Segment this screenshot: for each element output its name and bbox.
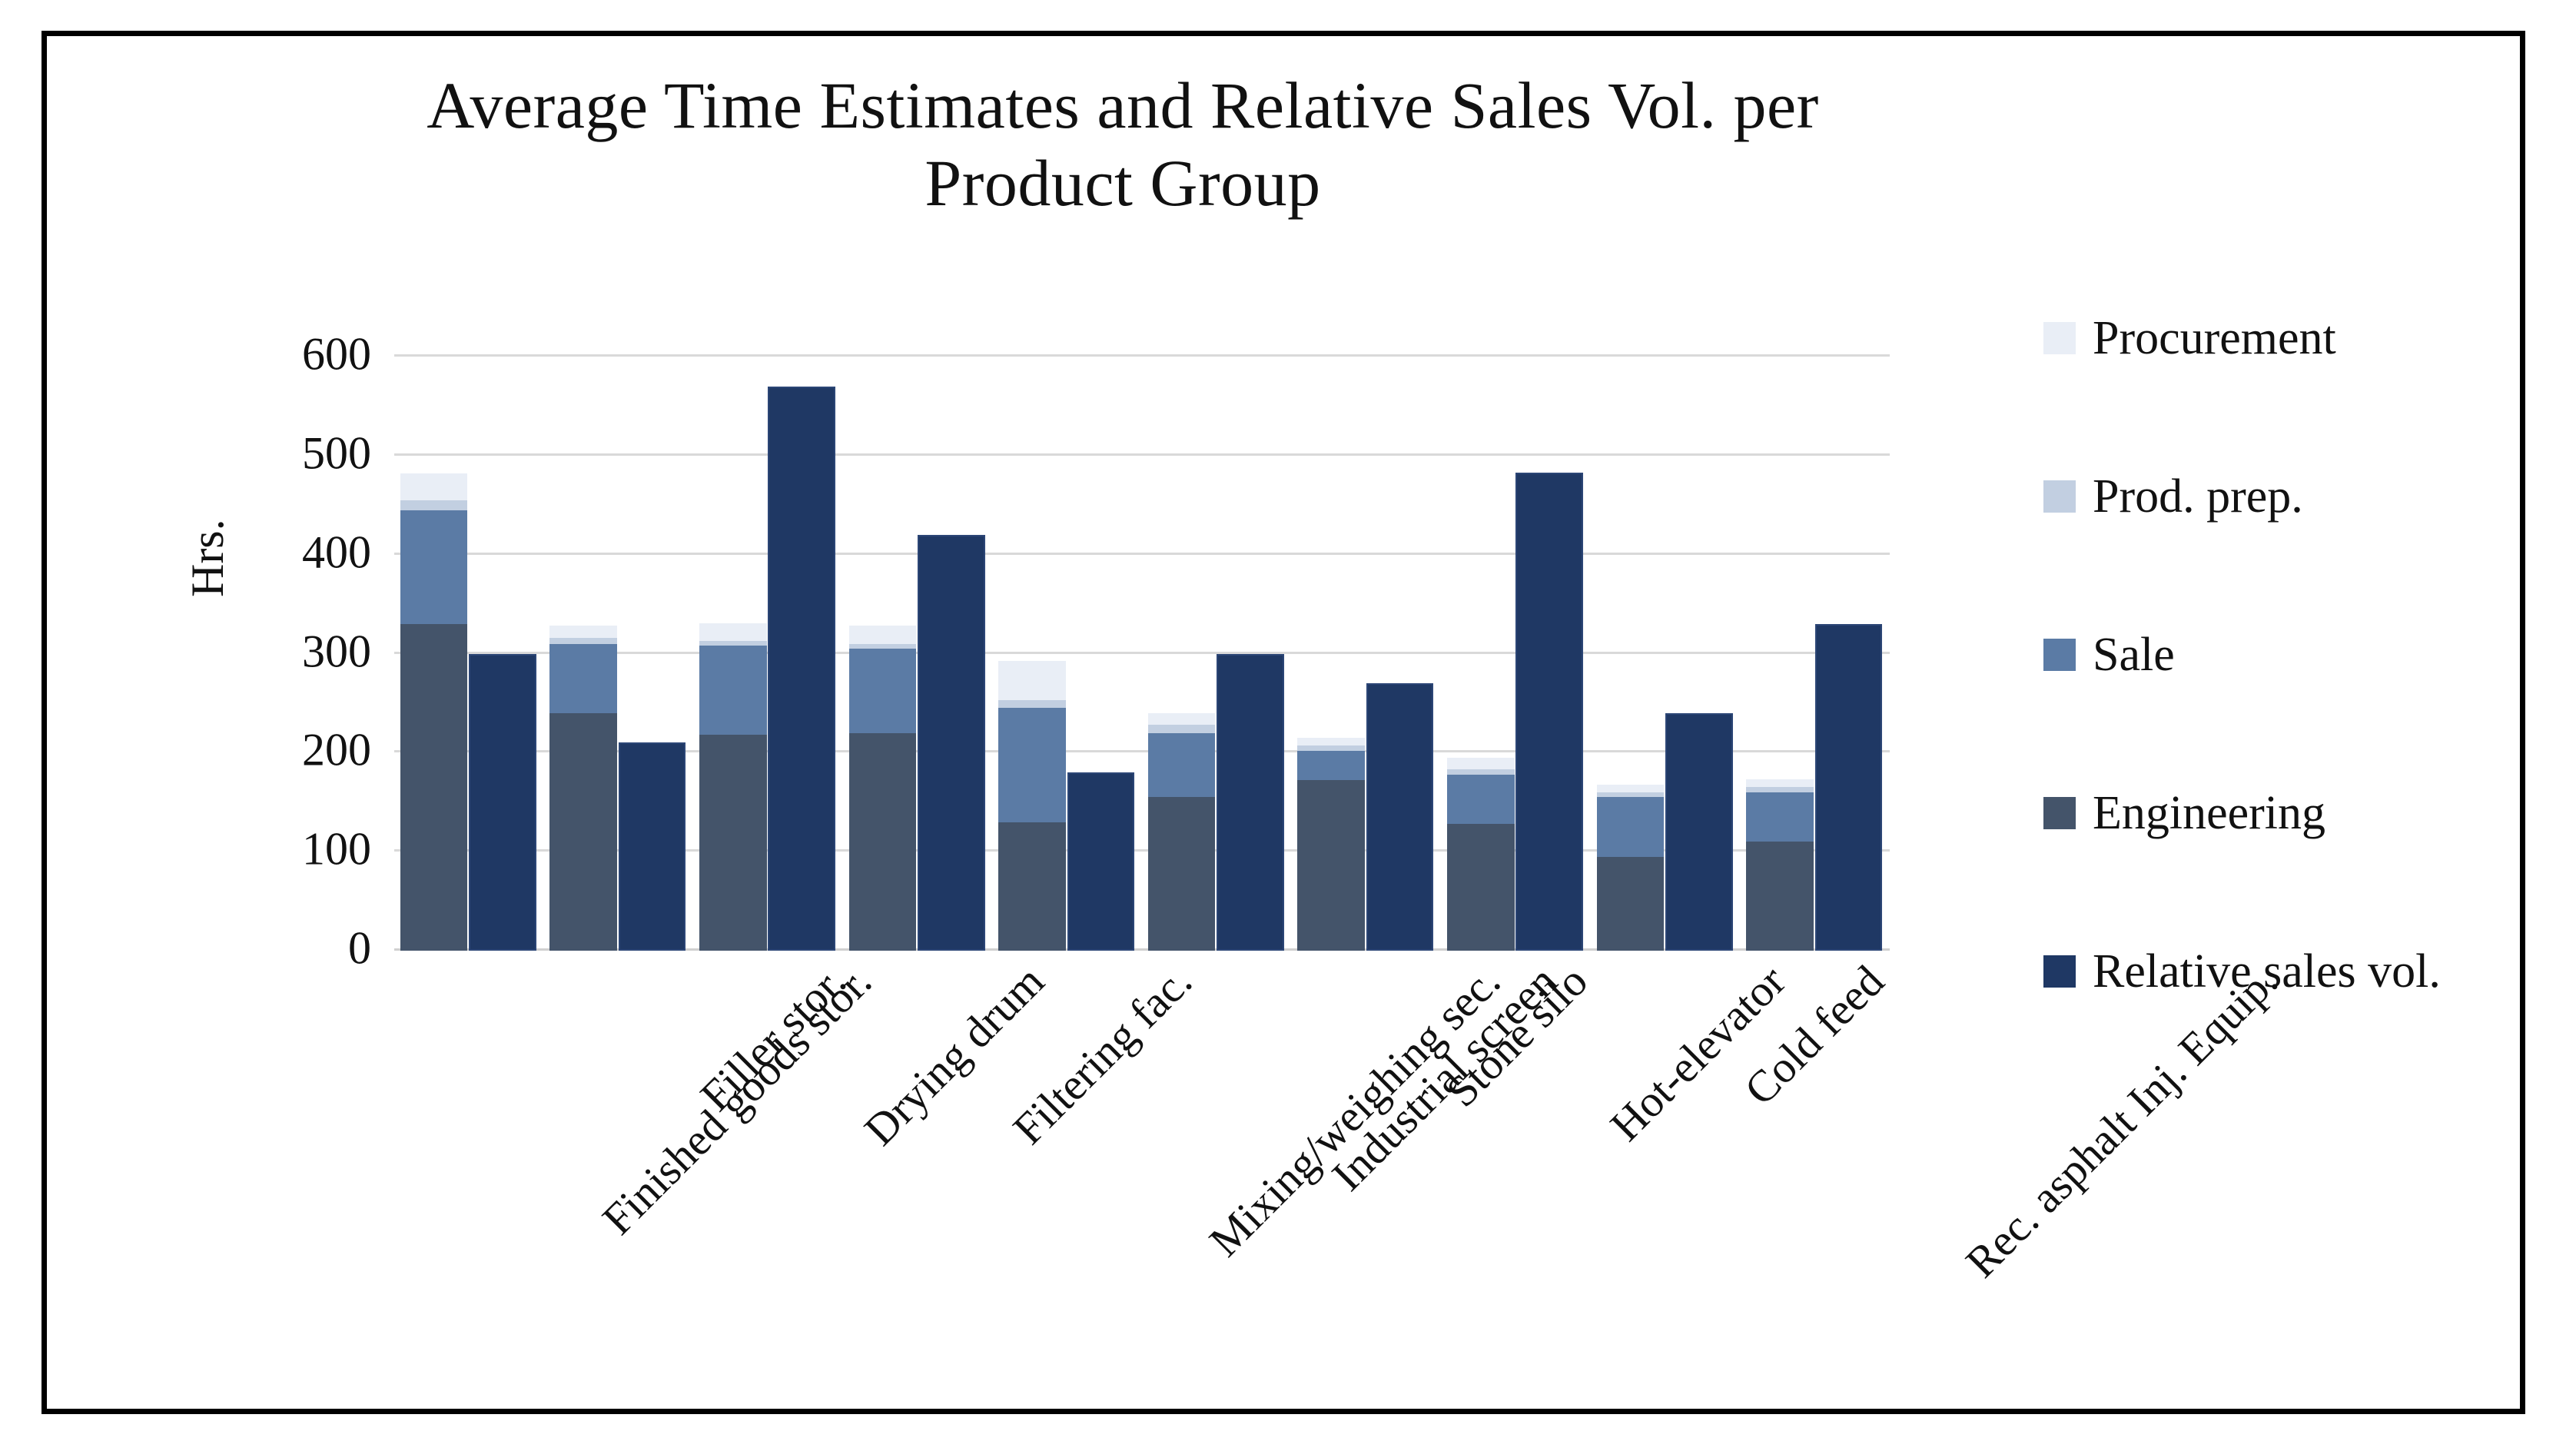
y-axis-tick-label: 600: [302, 328, 371, 381]
legend-label: Sale: [2093, 628, 2175, 682]
y-axis-tick-label: 100: [302, 823, 371, 876]
bar-segment[interactable]: [1148, 797, 1216, 951]
legend-label: Procurement: [2093, 311, 2336, 366]
bar-segment[interactable]: [549, 644, 617, 713]
legend-label: Prod. prep.: [2093, 470, 2303, 524]
relative-sales-bar[interactable]: [1815, 624, 1883, 951]
bar-group[interactable]: [693, 357, 843, 951]
bar-group[interactable]: [843, 357, 993, 951]
bar-segment[interactable]: [1746, 787, 1814, 792]
bar-segment[interactable]: [699, 646, 767, 735]
bar-segment[interactable]: [1148, 733, 1216, 798]
bar-segment[interactable]: [1447, 824, 1515, 951]
relative-sales-bar[interactable]: [1515, 473, 1583, 951]
bar-segment[interactable]: [1746, 792, 1814, 842]
bar-segment[interactable]: [400, 473, 468, 500]
bar-segment[interactable]: [1597, 797, 1665, 856]
stacked-time-bar[interactable]: [1148, 713, 1216, 951]
stacked-time-bar[interactable]: [1597, 785, 1665, 951]
bar-segment[interactable]: [1447, 775, 1515, 824]
stacked-time-bar[interactable]: [1746, 779, 1814, 951]
bar-segment[interactable]: [998, 822, 1066, 951]
bar-segment[interactable]: [1148, 713, 1216, 725]
legend-item[interactable]: Prod. prep.: [2043, 417, 2505, 576]
stacked-time-bar[interactable]: [699, 623, 767, 951]
legend-swatch-icon: [2043, 955, 2076, 988]
bar-segment[interactable]: [1746, 842, 1814, 951]
bar-segment[interactable]: [998, 661, 1066, 701]
bar-segment[interactable]: [1746, 779, 1814, 787]
bar-group[interactable]: [1292, 357, 1442, 951]
bar-group[interactable]: [544, 357, 694, 951]
y-axis-title: Hrs.: [181, 519, 234, 597]
bar-segment[interactable]: [1597, 857, 1665, 951]
legend-item[interactable]: Sale: [2043, 576, 2505, 734]
y-axis-tick-label: 500: [302, 427, 371, 480]
stacked-time-bar[interactable]: [400, 473, 468, 951]
bar-segment[interactable]: [400, 624, 468, 951]
x-axis-tick-label: Mixing/weighing sec.: [1199, 955, 1510, 1267]
bar-segment[interactable]: [699, 735, 767, 951]
relative-sales-bar[interactable]: [619, 742, 686, 951]
bar-segment[interactable]: [400, 510, 468, 624]
bar-segment[interactable]: [1297, 780, 1365, 951]
bar-group[interactable]: [394, 357, 544, 951]
y-axis-tick-label: 200: [302, 724, 371, 777]
stacked-time-bar[interactable]: [549, 626, 617, 951]
relative-sales-bar[interactable]: [1366, 683, 1434, 951]
bar-segment[interactable]: [849, 644, 917, 649]
figure-frame: Average Time Estimates and Relative Sale…: [41, 31, 2525, 1414]
bar-segment[interactable]: [1597, 792, 1665, 797]
relative-sales-bar[interactable]: [1665, 713, 1733, 951]
bar-segment[interactable]: [549, 626, 617, 637]
bar-segment[interactable]: [549, 713, 617, 951]
bar-group[interactable]: [992, 357, 1142, 951]
relative-sales-bar[interactable]: [1217, 654, 1284, 951]
bar-segment[interactable]: [1597, 785, 1665, 792]
relative-sales-bar[interactable]: [918, 535, 985, 951]
legend-item[interactable]: Relative sales vol.: [2043, 892, 2505, 1051]
bar-segment[interactable]: [849, 733, 917, 951]
bar-segment[interactable]: [998, 700, 1066, 708]
bar-group[interactable]: [1441, 357, 1591, 951]
bar-segment[interactable]: [699, 641, 767, 646]
bar-segment[interactable]: [998, 708, 1066, 822]
bar-segment[interactable]: [849, 649, 917, 733]
bar-segment[interactable]: [699, 623, 767, 641]
bar-segment[interactable]: [549, 638, 617, 644]
legend-swatch-icon: [2043, 797, 2076, 829]
stacked-time-bar[interactable]: [849, 626, 917, 951]
bar-segment[interactable]: [400, 500, 468, 510]
chart-legend: ProcurementProd. prep.SaleEngineeringRel…: [2043, 259, 2505, 1051]
bar-segment[interactable]: [1297, 745, 1365, 750]
legend-item[interactable]: Procurement: [2043, 259, 2505, 417]
legend-swatch-icon: [2043, 480, 2076, 513]
bars-layer: [394, 357, 1890, 951]
y-axis-tick-label: 300: [302, 625, 371, 678]
stacked-time-bar[interactable]: [1297, 738, 1365, 951]
bar-group[interactable]: [1591, 357, 1741, 951]
relative-sales-bar[interactable]: [768, 387, 835, 951]
bar-segment[interactable]: [849, 626, 917, 643]
y-axis-tick-label: 400: [302, 526, 371, 579]
legend-swatch-icon: [2043, 639, 2076, 671]
legend-label: Relative sales vol.: [2093, 945, 2441, 999]
bar-segment[interactable]: [1297, 751, 1365, 781]
x-axis-labels: Finished goods stor.Filler stor.Drying d…: [394, 955, 1890, 1447]
chart-canvas: Average Time Estimates and Relative Sale…: [47, 36, 2520, 1409]
legend-label: Engineering: [2093, 786, 2325, 841]
legend-item[interactable]: Engineering: [2043, 734, 2505, 892]
bar-segment[interactable]: [1447, 758, 1515, 769]
bar-segment[interactable]: [1447, 769, 1515, 774]
y-axis-tick-label: 0: [348, 922, 371, 975]
stacked-time-bar[interactable]: [1447, 758, 1515, 951]
plot-area: 6005004003002001000: [394, 357, 1890, 951]
stacked-time-bar[interactable]: [998, 661, 1066, 951]
relative-sales-bar[interactable]: [469, 654, 536, 951]
chart-title: Average Time Estimates and Relative Sale…: [277, 67, 1968, 223]
bar-segment[interactable]: [1148, 725, 1216, 732]
bar-segment[interactable]: [1297, 738, 1365, 745]
bar-group[interactable]: [1142, 357, 1292, 951]
relative-sales-bar[interactable]: [1067, 772, 1135, 951]
bar-group[interactable]: [1740, 357, 1890, 951]
legend-swatch-icon: [2043, 322, 2076, 354]
